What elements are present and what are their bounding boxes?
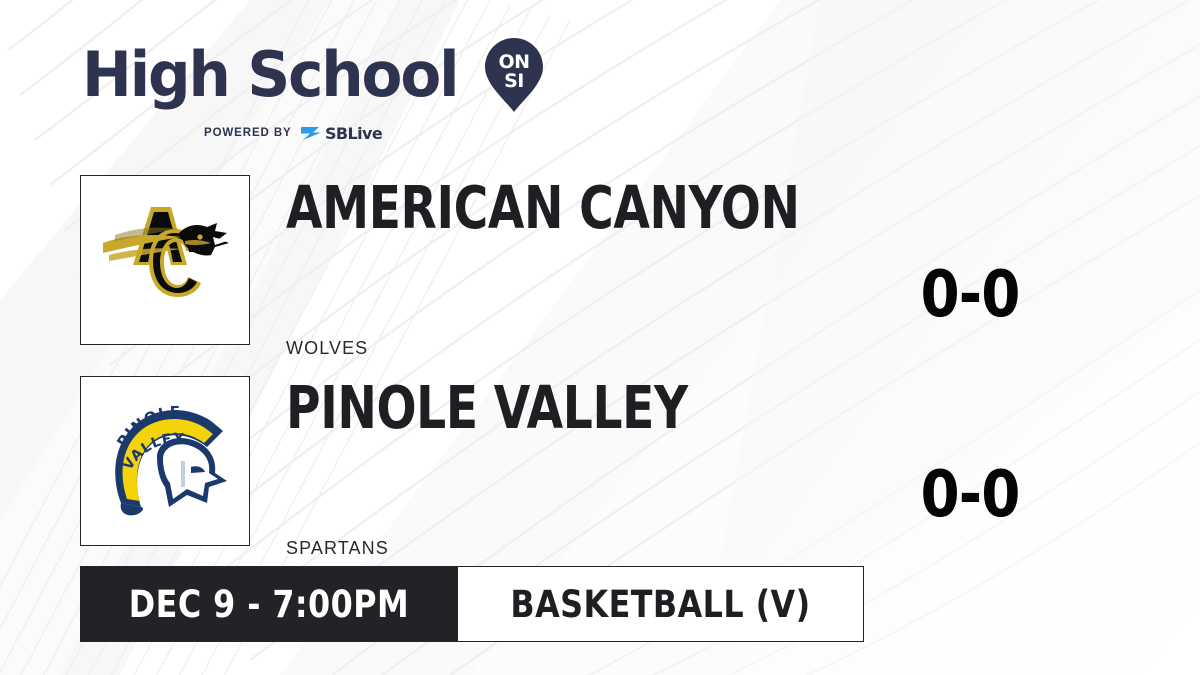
sblive-wordmark: SBLive [325,124,383,143]
sblive-logo[interactable]: SBLive [299,123,423,143]
team-record-pinole-valley: 0-0 [891,458,1049,532]
brand-header: High School ON SI POWERED BY SBLive [82,36,545,143]
team-record-american-canyon: 0-0 [891,258,1049,332]
powered-by-row: POWERED BY SBLive [204,123,545,143]
high-school-on-si-logo[interactable]: High School ON SI [82,36,545,114]
team-logo-box-pinole-valley[interactable]: PINOLE VALLEY [80,376,250,546]
game-sport-label: BASKETBALL (V) [510,583,810,626]
game-sport-block: BASKETBALL (V) [458,566,864,642]
powered-by-label: POWERED BY [204,127,292,139]
american-canyon-wolves-logo [95,195,235,325]
pinole-valley-spartans-logo: PINOLE VALLEY [95,395,235,527]
pin-text-si: SI [504,70,524,92]
team-mascot-wolves: WOLVES [286,338,368,359]
team-mascot-spartans: SPARTANS [286,538,389,559]
game-datetime-block: DEC 9 - 7:00PM [80,566,458,642]
logo-wordmark: High School [82,46,457,105]
game-datetime-label: DEC 9 - 7:00PM [129,583,409,626]
team-name-american-canyon: AMERICAN CANYON [286,178,800,237]
on-si-pin-icon: ON SI [483,36,545,114]
game-info-bar: DEC 9 - 7:00PM BASKETBALL (V) [80,566,864,642]
team-logo-box-american-canyon[interactable] [80,175,250,345]
team-name-pinole-valley: PINOLE VALLEY [286,378,688,437]
